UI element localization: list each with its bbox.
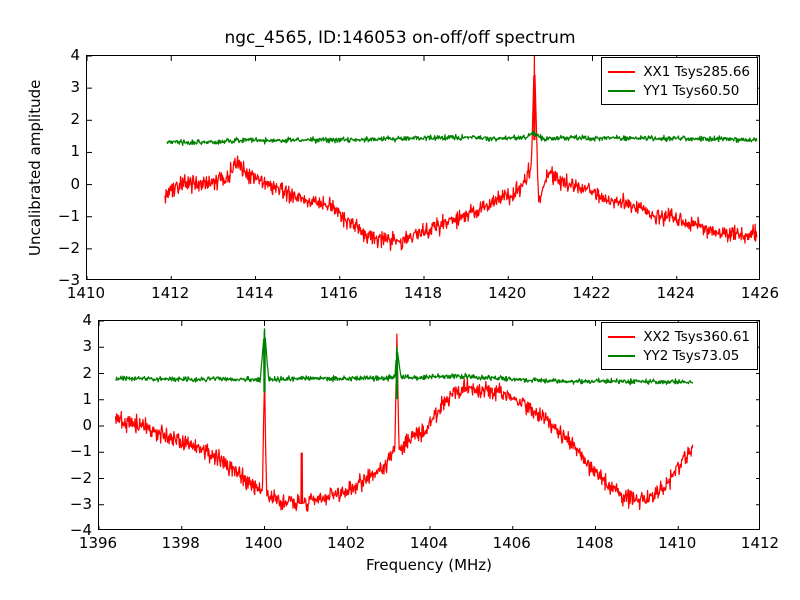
y-tick-label: −3 — [48, 271, 80, 289]
x-tick-label: 1412 — [741, 534, 779, 552]
y-tick-label: 3 — [60, 337, 92, 355]
y-tick-label: 4 — [60, 311, 92, 329]
legend-line-swatch — [608, 90, 635, 92]
x-tick-label: 1398 — [162, 534, 200, 552]
trace-yy — [167, 131, 757, 146]
x-axis-label: Frequency (MHz) — [366, 556, 492, 574]
legend-label: YY1 Tsys60.50 — [643, 83, 739, 99]
legend-line-swatch — [608, 336, 635, 338]
y-tick-label: 0 — [60, 416, 92, 434]
legend-line-swatch — [608, 71, 635, 73]
x-tick-label: 1404 — [410, 534, 448, 552]
figure-title: ngc_4565, ID:146053 on-off/off spectrum — [0, 28, 800, 48]
y-tick-label: 2 — [48, 110, 80, 128]
legend-entry: YY1 Tsys60.50 — [608, 81, 750, 100]
y-tick-label: −2 — [48, 239, 80, 257]
y-tick-label: 2 — [60, 364, 92, 382]
spectrum-figure: ngc_4565, ID:146053 on-off/off spectrum … — [0, 0, 800, 600]
y-tick-label: 4 — [48, 46, 80, 64]
x-tick-label: 1406 — [493, 534, 531, 552]
y-tick-label: 0 — [48, 175, 80, 193]
y-tick-label: 1 — [60, 390, 92, 408]
x-tick-label: 1414 — [235, 284, 273, 302]
x-tick-label: 1418 — [404, 284, 442, 302]
x-tick-label: 1408 — [575, 534, 613, 552]
x-tick-label: 1420 — [488, 284, 526, 302]
legend-entry: YY2 Tsys73.05 — [608, 346, 750, 365]
x-tick-label: 1400 — [244, 534, 282, 552]
legend-label: YY2 Tsys73.05 — [643, 348, 739, 364]
y-tick-label: 1 — [48, 142, 80, 160]
y-tick-label: −3 — [60, 495, 92, 513]
legend-label: XX2 Tsys360.61 — [643, 329, 750, 345]
y-tick-label: −1 — [48, 207, 80, 225]
legend-line-swatch — [608, 355, 635, 357]
x-tick-label: 1422 — [572, 284, 610, 302]
bottom-panel-legend: XX2 Tsys360.61YY2 Tsys73.05 — [601, 322, 758, 370]
legend-label: XX1 Tsys285.66 — [643, 64, 750, 80]
x-tick-label: 1426 — [741, 284, 779, 302]
top-panel: XX1 Tsys285.66YY1 Tsys60.50 — [86, 55, 760, 280]
x-tick-label: 1410 — [658, 534, 696, 552]
x-tick-label: 1424 — [657, 284, 695, 302]
y-tick-label: −4 — [60, 521, 92, 539]
legend-entry: XX2 Tsys360.61 — [608, 327, 750, 346]
x-tick-label: 1402 — [327, 534, 365, 552]
y-tick-label: −1 — [60, 442, 92, 460]
y-tick-label: −2 — [60, 469, 92, 487]
legend-entry: XX1 Tsys285.66 — [608, 62, 750, 81]
bottom-panel: XX2 Tsys360.61YY2 Tsys73.05 — [98, 320, 760, 530]
x-tick-label: 1416 — [320, 284, 358, 302]
x-tick-label: 1412 — [151, 284, 189, 302]
top-panel-legend: XX1 Tsys285.66YY1 Tsys60.50 — [601, 57, 758, 105]
y-tick-label: 3 — [48, 78, 80, 96]
y-axis-label: Uncalibrated amplitude — [26, 79, 44, 255]
